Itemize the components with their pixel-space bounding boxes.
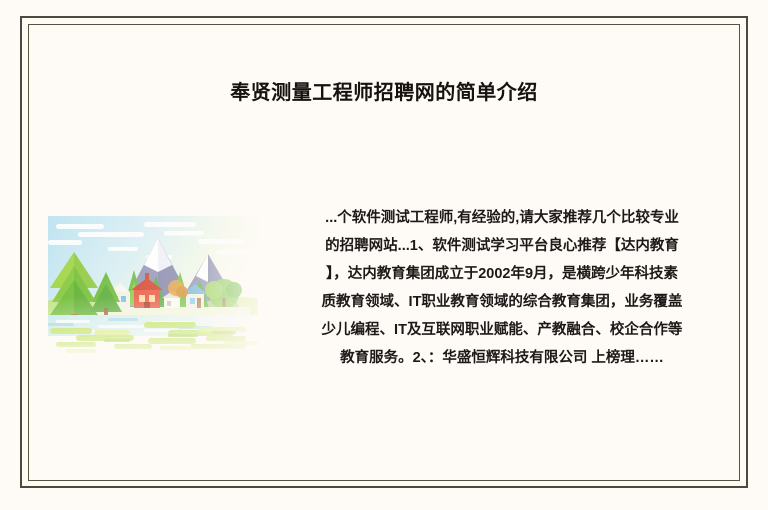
body-line-5: 少儿编程、IT及互联网职业赋能、产教融合、校企合作等 <box>268 316 736 344</box>
page-root: 奉贤测量工程师招聘网的简单介绍 <box>0 0 768 510</box>
body-line-6: 教育服务。2、：华盛恒辉科技有限公司 上榜理…… <box>268 344 736 372</box>
body-line-1: ...个软件测试工程师,有经验的,请大家推荐几个比较专业 <box>268 204 736 232</box>
body-line-3: 】，达内教育集团成立于2002年9月，是横跨少年科技素 <box>268 260 736 288</box>
body-line-2: 的招聘网站...1、软件测试学习平台良心推荐【达内教育 <box>268 232 736 260</box>
body-line-4: 质教育领域、IT职业教育领域的综合教育集团，业务覆盖 <box>268 288 736 316</box>
article-body-text: ...个软件测试工程师,有经验的,请大家推荐几个比较专业 的招聘网站...1、软… <box>268 204 736 372</box>
landscape-illustration-icon <box>48 210 280 360</box>
content-area: ...个软件测试工程师,有经验的,请大家推荐几个比较专业 的招聘网站...1、软… <box>36 200 736 390</box>
page-title: 奉贤测量工程师招聘网的简单介绍 <box>0 80 768 106</box>
